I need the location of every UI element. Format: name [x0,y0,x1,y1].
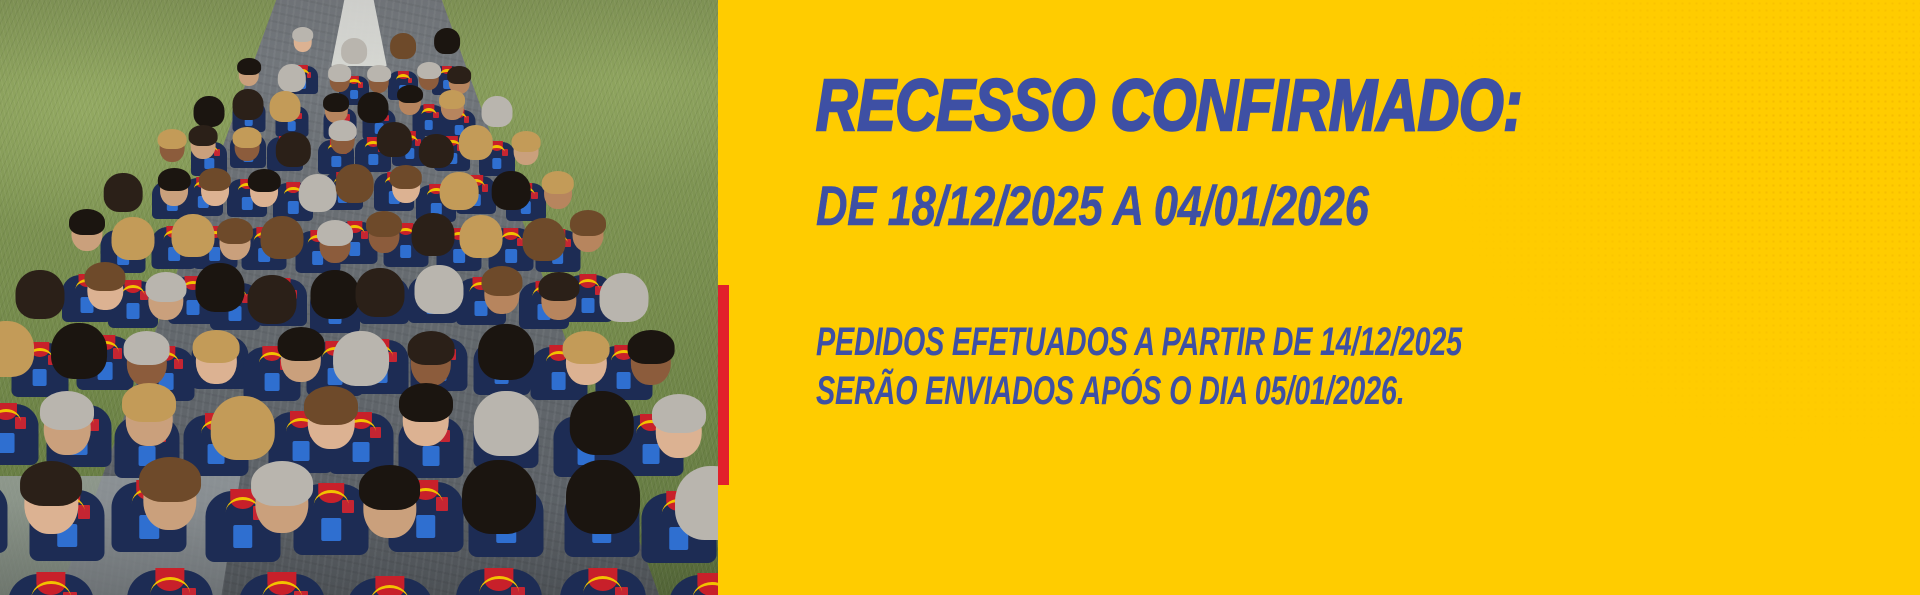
hair [193,330,240,364]
hair [390,33,416,59]
hair [478,324,534,380]
red-accent-bar [718,285,729,485]
hair [522,218,565,261]
hair [460,215,503,258]
hair [172,214,215,257]
hair [481,266,522,296]
badge [505,249,517,263]
hair [145,272,186,302]
hair [51,323,107,379]
person [456,467,542,595]
hair [104,173,143,212]
hair [447,66,471,83]
hair [434,28,460,54]
hair [111,217,154,260]
recess-dateline: DE 18/12/2025 A 04/01/2026 [816,178,1368,234]
hair [328,120,357,141]
hair [85,262,126,292]
hair [317,220,353,246]
hair [538,272,579,302]
headline: RECESSO CONFIRMADO: [816,72,1522,140]
hair [341,38,367,64]
person [127,468,213,595]
hair [439,90,465,109]
hair [366,211,402,237]
hair [652,394,706,433]
hair [139,457,201,502]
person [669,473,718,595]
hair [276,132,310,166]
hair [599,273,648,322]
hair [270,91,301,122]
hair [277,64,305,92]
hair [328,64,352,81]
hair [292,27,314,43]
hair [440,172,479,211]
hair [390,165,422,188]
hair [122,383,176,422]
hair [481,96,512,127]
hair [377,122,411,156]
hair [492,171,531,210]
hair [570,210,606,236]
hair [323,93,349,112]
hair [210,396,275,461]
hair [304,386,358,425]
crowd-of-people [0,0,718,595]
hair [419,134,453,168]
hair [20,461,82,506]
hair [217,218,253,244]
hair [335,164,374,203]
hair [196,263,245,312]
person [347,476,433,595]
hair [260,216,303,259]
hair [158,168,190,191]
hair [408,331,455,365]
hair [123,331,170,365]
hair [542,171,574,194]
polo-shirt [0,482,8,553]
person [8,472,94,595]
hair [233,89,264,120]
shipping-note: PEDIDOS EFETUADOS A PARTIR DE 14/12/2025… [816,318,1462,416]
hair [333,331,389,387]
hair [298,174,337,213]
hair [462,460,536,534]
hair [566,460,640,534]
hair [399,383,453,422]
person [0,393,8,547]
hair [189,125,218,146]
hair [397,85,423,104]
hair [0,321,34,377]
hair [247,275,296,324]
hair [675,466,718,540]
hair [251,461,313,506]
hair [69,209,105,235]
hair [459,125,493,159]
hair [412,213,455,256]
hair [278,327,325,361]
hair [233,127,262,148]
text-block: RECESSO CONFIRMADO: DE 18/12/2025 A 04/0… [816,0,1896,595]
hair [158,129,187,150]
hair [367,65,391,82]
group-photo [0,0,718,595]
hair [415,265,464,314]
yellow-content-panel: RECESSO CONFIRMADO: DE 18/12/2025 A 04/0… [718,0,1920,595]
hair [194,96,225,127]
hair [15,270,64,319]
hair [248,169,280,192]
promo-banner: RECESSO CONFIRMADO: DE 18/12/2025 A 04/0… [0,0,1920,595]
hair [359,465,421,510]
hair [358,92,389,123]
hair [570,391,635,456]
person [560,467,646,595]
person [239,472,325,595]
shipping-note-line-1: PEDIDOS EFETUADOS A PARTIR DE 14/12/2025 [816,318,1462,367]
hair [474,391,539,456]
hair [356,268,405,317]
hair [563,331,610,365]
hair [40,391,94,430]
hair [628,330,675,364]
hair [417,62,441,79]
shipping-note-line-2: SERÃO ENVIADOS APÓS O DIA 05/01/2026. [816,367,1462,416]
hair [237,58,261,75]
hair [511,131,540,152]
hair [198,168,230,191]
